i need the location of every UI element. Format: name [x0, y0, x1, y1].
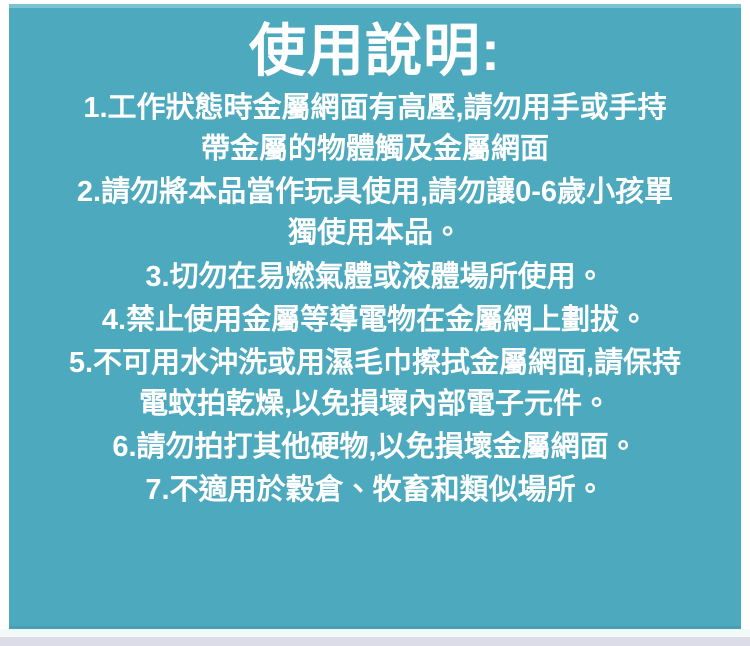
instruction-item-4: 4.禁止使用金屬等導電物在金屬網上劃拔。 [25, 300, 725, 341]
instruction-item-6: 6.請勿拍打其他硬物,以免損壞金屬網面。 [25, 427, 725, 468]
panel-separator [0, 629, 750, 637]
instruction-item-5: 5.不可用水沖洗或用濕毛巾擦拭金屬網面,請保持電蚊拍乾燥,以免損壞內部電子元件。 [62, 343, 688, 425]
instruction-list: 1.工作狀態時金屬網面有高壓,請勿用手或手持帶金屬的物體觸及金屬網面 2.請勿將… [17, 84, 733, 512]
instruction-panel: 使用說明: 1.工作狀態時金屬網面有高壓,請勿用手或手持帶金屬的物體觸及金屬網面… [9, 4, 741, 629]
instruction-item-3: 3.切勿在易燃氣體或液體場所使用。 [25, 257, 725, 298]
bottom-strip [0, 637, 750, 646]
instruction-page: 使用說明: 1.工作狀態時金屬網面有高壓,請勿用手或手持帶金屬的物體觸及金屬網面… [0, 0, 750, 646]
panel-content: 使用說明: 1.工作狀態時金屬網面有高壓,請勿用手或手持帶金屬的物體觸及金屬網面… [9, 4, 741, 512]
instruction-item-7: 7.不適用於穀倉、牧畜和類似場所。 [25, 470, 725, 511]
instruction-item-1: 1.工作狀態時金屬網面有高壓,請勿用手或手持帶金屬的物體觸及金屬網面 [69, 88, 681, 170]
instruction-item-2: 2.請勿將本品當作玩具使用,請勿讓0-6歲小孩單獨使用本品。 [67, 172, 683, 254]
page-title: 使用說明: [17, 4, 733, 84]
